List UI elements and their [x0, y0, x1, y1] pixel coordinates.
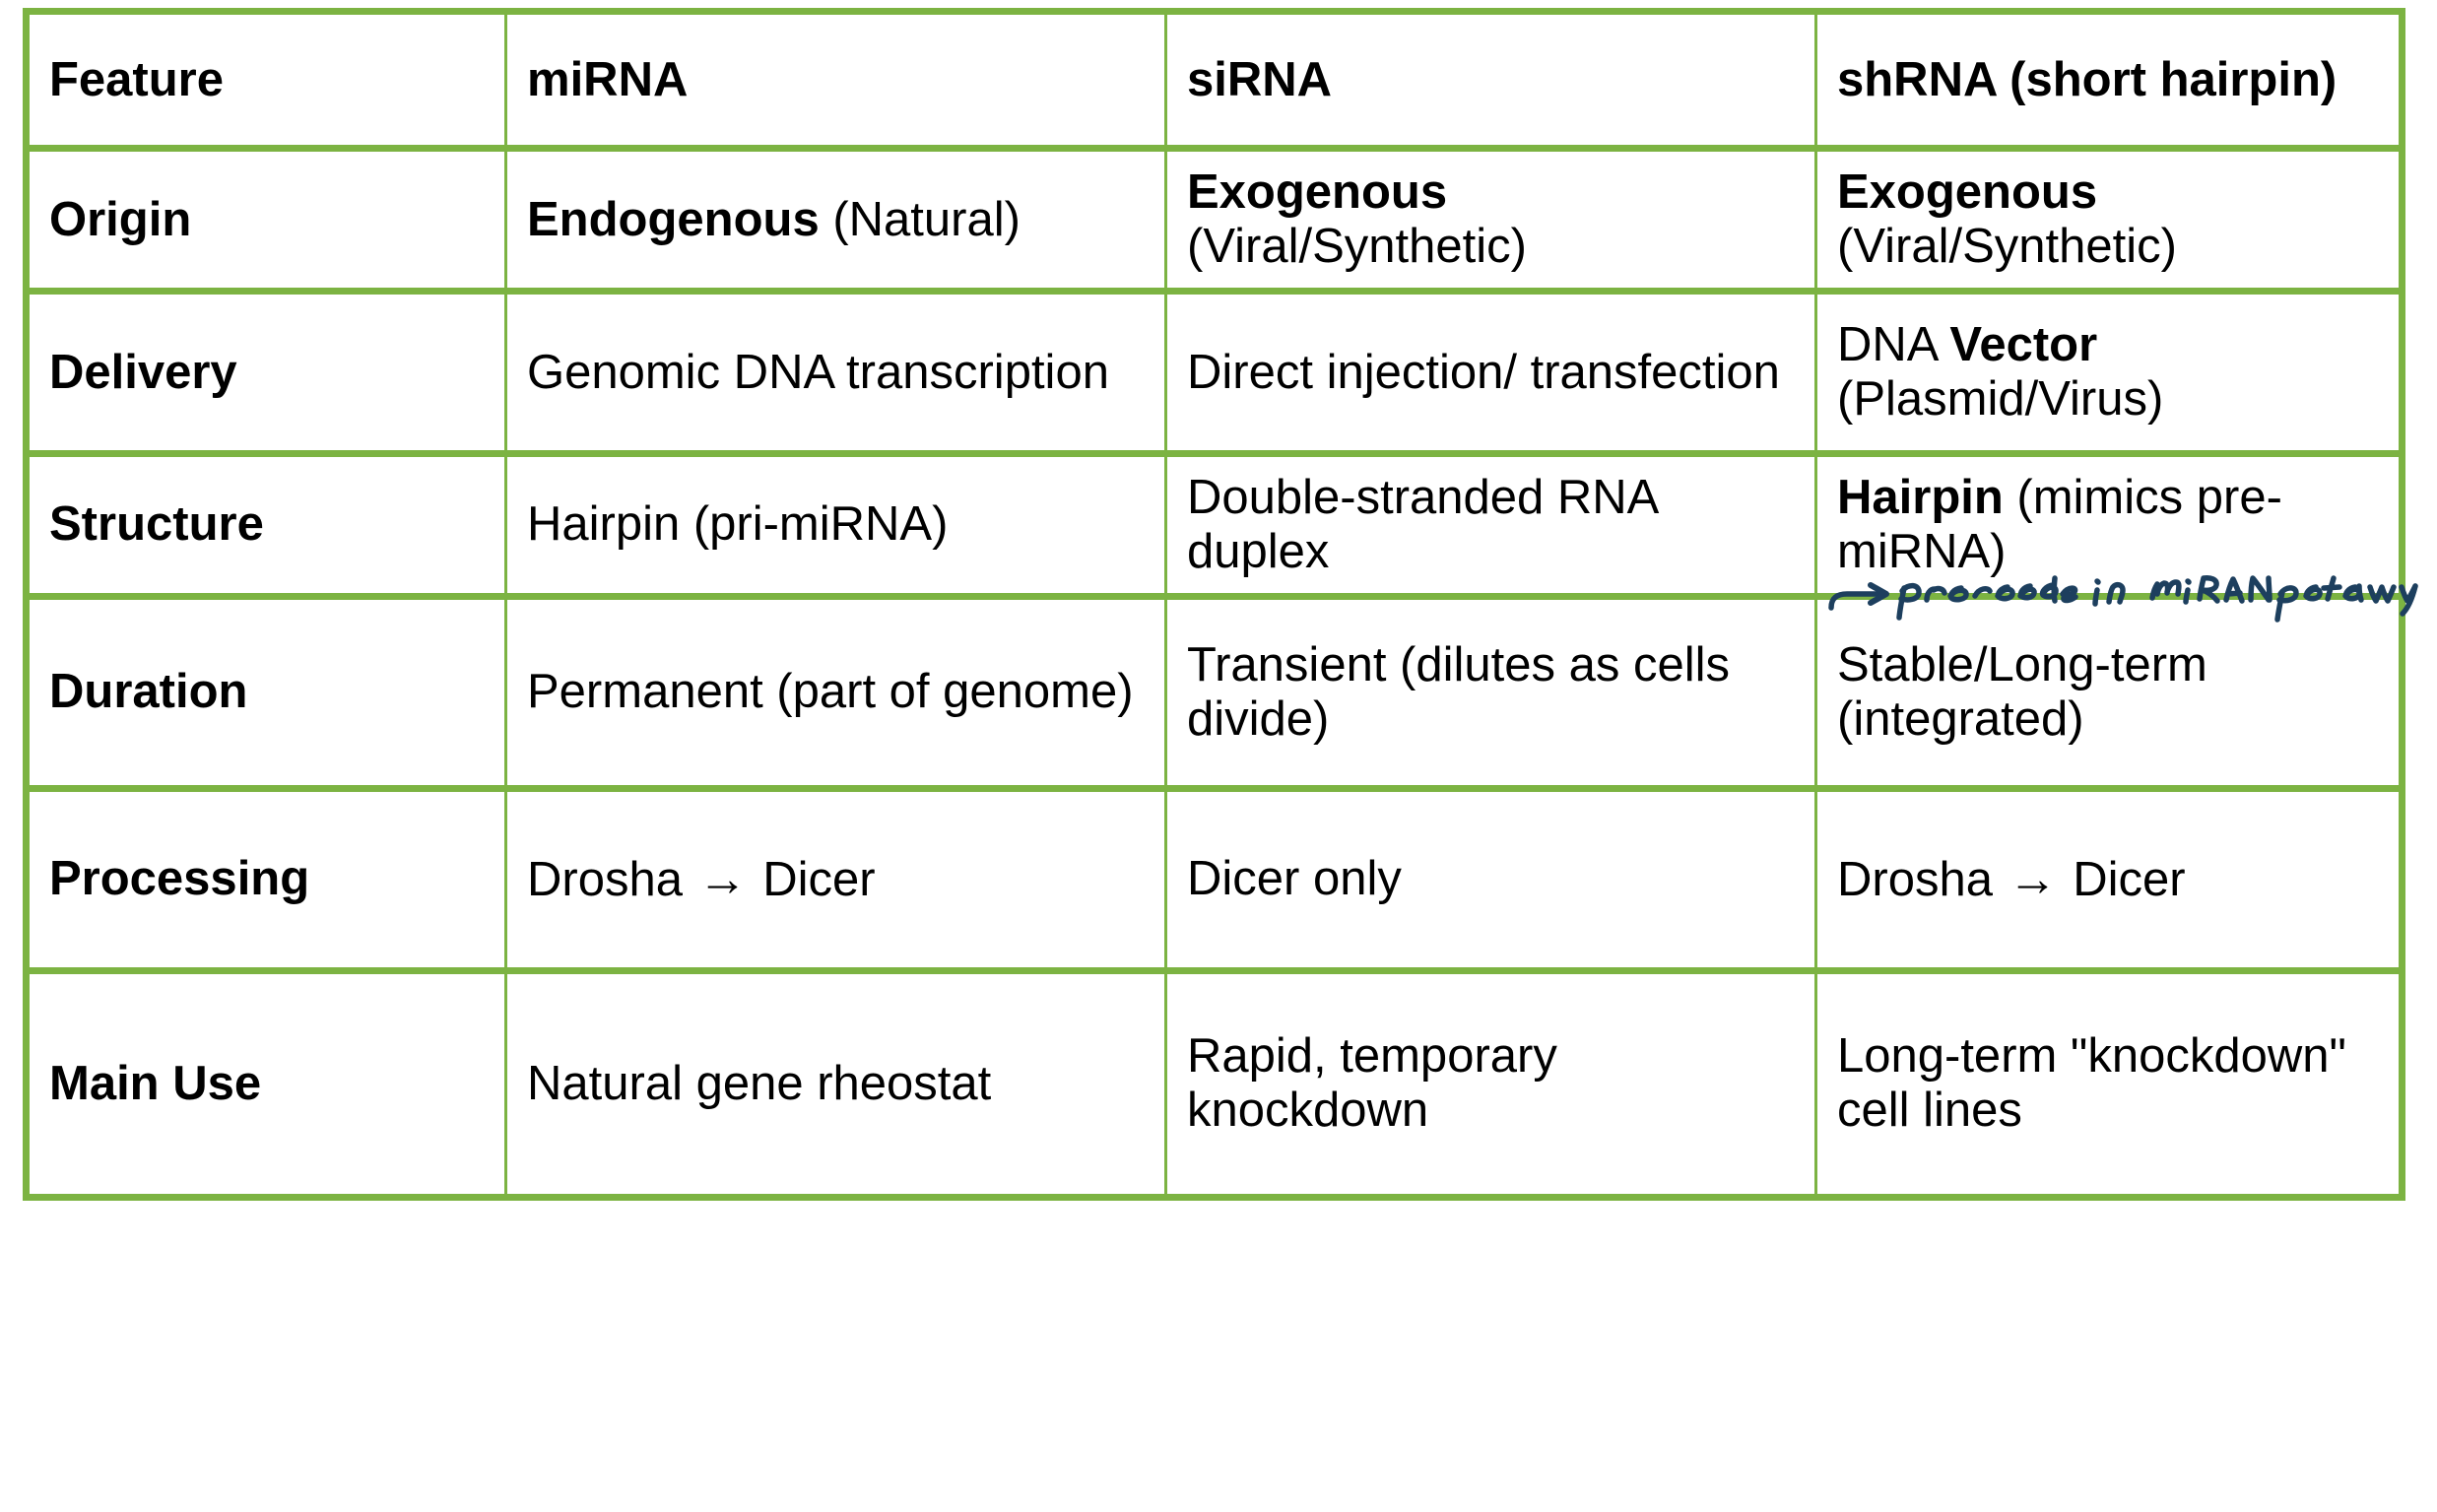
origin-mirna-bold: Endogenous	[527, 193, 820, 246]
table-row: Main Use Natural gene rheostat Rapid, te…	[27, 970, 2403, 1197]
table-row: Origin Endogenous (Natural) Exogenous (V…	[27, 149, 2403, 292]
cell-delivery-mirna: Genomic DNA transcription	[506, 292, 1166, 454]
row-label-delivery: Delivery	[27, 292, 506, 454]
origin-shrna-rest: (Viral/Synthetic)	[1837, 220, 2177, 273]
table-row: Delivery Genomic DNA transcription Direc…	[27, 292, 2403, 454]
right-arrow-icon: →	[2007, 851, 2060, 906]
table-header-row: Feature miRNA siRNA shRNA (short hairpin…	[27, 12, 2403, 149]
delivery-shrna-bold: Vector	[1949, 318, 2097, 371]
cell-duration-sirna: Transient (dilutes as cells divide)	[1166, 596, 1816, 788]
processing-mirna-pre: Drosha	[527, 853, 683, 906]
row-label-structure: Structure	[27, 454, 506, 597]
cell-structure-mirna: Hairpin (pri-miRNA)	[506, 454, 1166, 597]
cell-mainuse-shrna: Long-term "knockdown" cell lines	[1816, 970, 2403, 1197]
table-row: Duration Permanent (part of genome) Tran…	[27, 596, 2403, 788]
row-label-main-use: Main Use	[27, 970, 506, 1197]
cell-mainuse-sirna: Rapid, temporary knockdown	[1166, 970, 1816, 1197]
cell-structure-sirna: Double-stranded RNA duplex	[1166, 454, 1816, 597]
header-cell-feature: Feature	[27, 12, 506, 149]
cell-processing-shrna: Drosha → Dicer	[1816, 788, 2403, 970]
origin-sirna-rest: (Viral/Synthetic)	[1187, 220, 1527, 273]
cell-duration-mirna: Permanent (part of genome)	[506, 596, 1166, 788]
cell-processing-mirna: Drosha → Dicer	[506, 788, 1166, 970]
cell-mainuse-mirna: Natural gene rheostat	[506, 970, 1166, 1197]
processing-mirna-post: Dicer	[762, 853, 875, 906]
cell-structure-shrna: Hairpin (mimics pre-miRNA)	[1816, 454, 2403, 597]
processing-shrna-pre: Drosha	[1837, 853, 1993, 906]
cell-origin-shrna: Exogenous (Viral/Synthetic)	[1816, 149, 2403, 292]
cell-processing-sirna: Dicer only	[1166, 788, 1816, 970]
header-cell-sirna: siRNA	[1166, 12, 1816, 149]
row-label-duration: Duration	[27, 596, 506, 788]
table-row: Structure Hairpin (pri-miRNA) Double-str…	[27, 454, 2403, 597]
structure-shrna-bold: Hairpin	[1837, 471, 2004, 524]
origin-mirna-rest: (Natural)	[832, 193, 1021, 246]
cell-origin-mirna: Endogenous (Natural)	[506, 149, 1166, 292]
cell-delivery-sirna: Direct injection/ transfection	[1166, 292, 1816, 454]
delivery-shrna-pre: DNA	[1837, 318, 1949, 371]
cell-duration-shrna: Stable/Long-term (integrated)	[1816, 596, 2403, 788]
row-label-origin: Origin	[27, 149, 506, 292]
slide-canvas: Feature miRNA siRNA shRNA (short hairpin…	[0, 0, 2437, 1512]
header-cell-shrna: shRNA (short hairpin)	[1816, 12, 2403, 149]
header-cell-mirna: miRNA	[506, 12, 1166, 149]
origin-shrna-bold: Exogenous	[1837, 165, 2097, 219]
right-arrow-icon: →	[696, 851, 750, 906]
processing-shrna-post: Dicer	[2073, 853, 2185, 906]
comparison-table: Feature miRNA siRNA shRNA (short hairpin…	[23, 8, 2405, 1201]
cell-origin-sirna: Exogenous (Viral/Synthetic)	[1166, 149, 1816, 292]
row-label-processing: Processing	[27, 788, 506, 970]
origin-sirna-bold: Exogenous	[1187, 165, 1447, 219]
cell-delivery-shrna: DNA Vector (Plasmid/Virus)	[1816, 292, 2403, 454]
table-row: Processing Drosha → Dicer Dicer only Dro…	[27, 788, 2403, 970]
delivery-shrna-rest: (Plasmid/Virus)	[1837, 372, 2163, 426]
